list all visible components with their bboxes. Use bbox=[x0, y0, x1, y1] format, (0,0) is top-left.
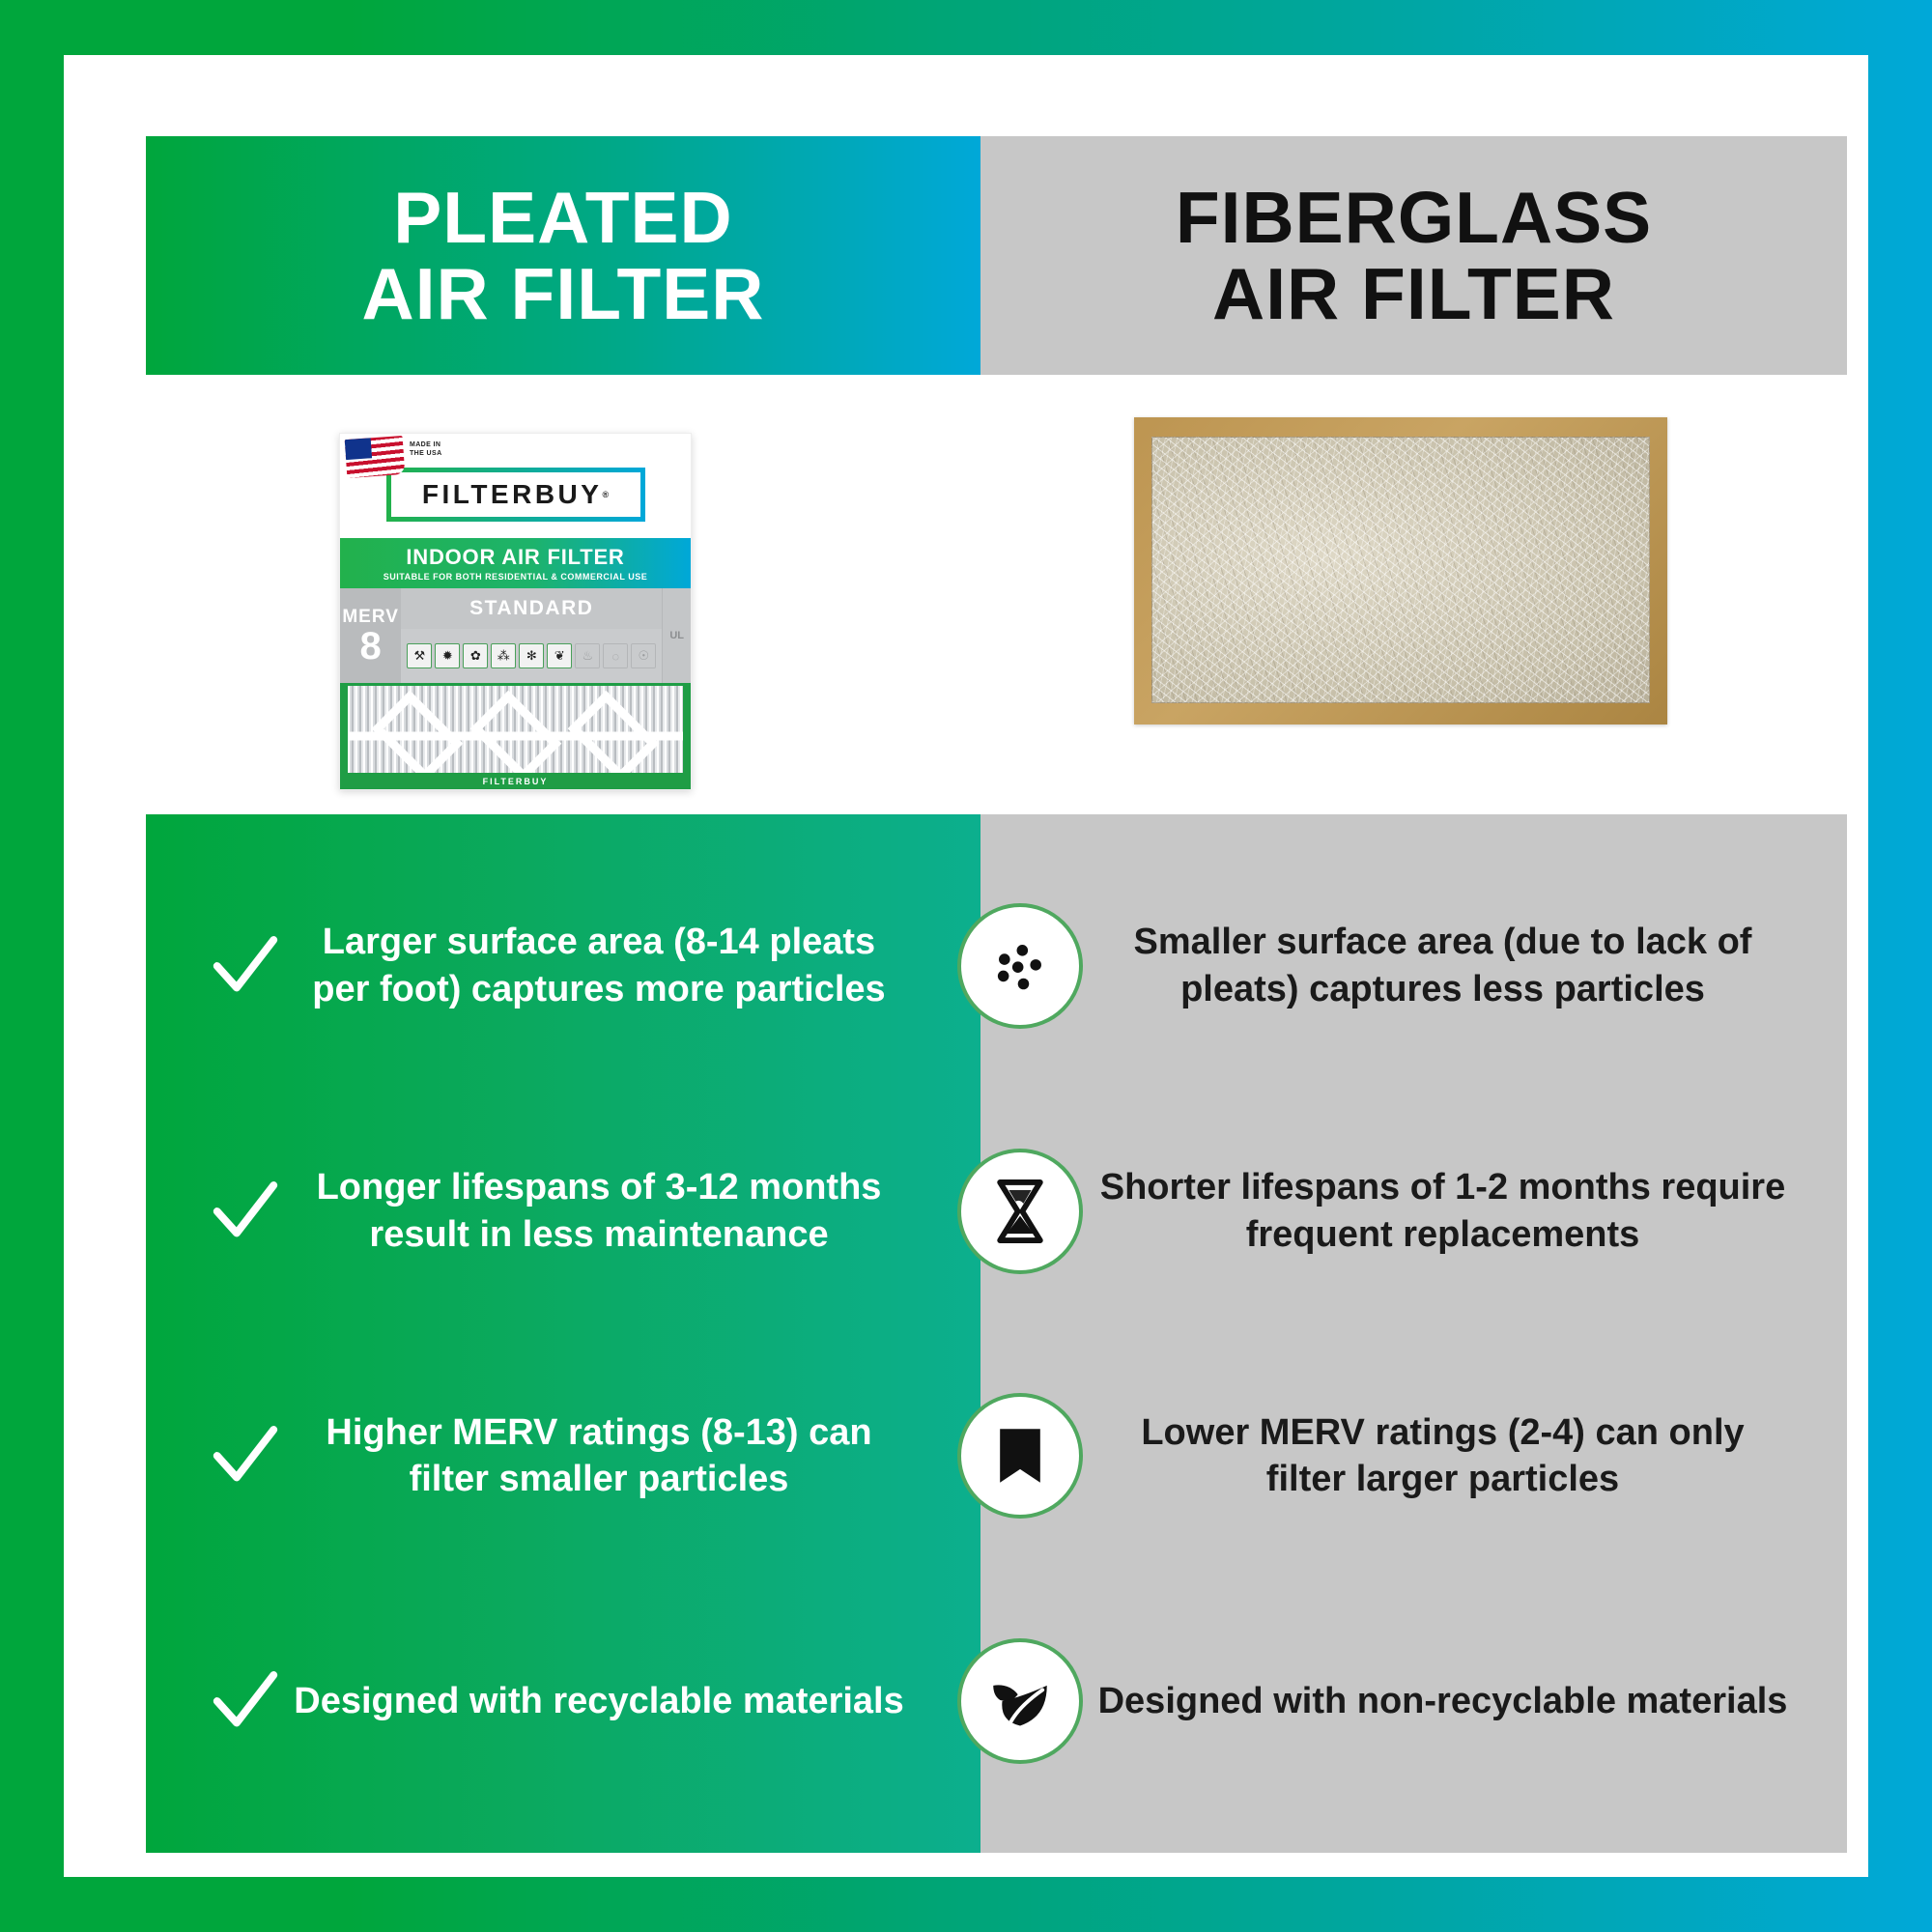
suitable-for-use-label: SUITABLE FOR BOTH RESIDENTIAL & COMMERCI… bbox=[384, 572, 648, 582]
grade-block: STANDARD ⚒ ✹ ✿ ⁂ ✻ ❦ ♨ ◌ ☉ bbox=[401, 588, 662, 683]
row-right-fiberglass: Lower MERV ratings (2-4) can only filter… bbox=[980, 1409, 1847, 1503]
pleated-media-window: FILTERBUY bbox=[340, 683, 691, 789]
virus-icon: ☉ bbox=[631, 643, 656, 668]
box-indoor-air-filter-band: INDOOR AIR FILTER SUITABLE FOR BOTH RESI… bbox=[340, 538, 691, 588]
household-dust-icon: ⚒ bbox=[407, 643, 432, 668]
comparison-row: Higher MERV ratings (8-13) can filter sm… bbox=[146, 1345, 1847, 1567]
box-footer-brand: FILTERBUY bbox=[340, 773, 691, 789]
row-left-pleated: Higher MERV ratings (8-13) can filter sm… bbox=[146, 1409, 980, 1503]
check-icon bbox=[204, 1177, 287, 1246]
row-right-fiberglass: Smaller surface area (due to lack of ple… bbox=[980, 919, 1847, 1012]
row-left-text: Larger surface area (8-14 pleats per foo… bbox=[293, 919, 905, 1012]
box-brand-header: MADE IN THE USA FILTERBUY® bbox=[340, 434, 691, 538]
comparison-row: Longer lifespans of 3-12 months result i… bbox=[146, 1100, 1847, 1322]
merv-value: 8 bbox=[360, 628, 382, 665]
row-right-fiberglass: Designed with non-recyclable materials bbox=[980, 1678, 1847, 1725]
mold-icon: ⁂ bbox=[491, 643, 516, 668]
infographic-root: PLEATED AIR FILTER FIBERGLASS AIR FILTER… bbox=[0, 0, 1932, 1932]
comparison-row: Designed with recyclable materials Desig… bbox=[146, 1590, 1847, 1812]
brand-name-text: FILTERBUY bbox=[422, 479, 603, 510]
white-card: PLEATED AIR FILTER FIBERGLASS AIR FILTER… bbox=[64, 55, 1868, 1877]
header-pleated-title: PLEATED AIR FILTER bbox=[362, 180, 765, 332]
lint-icon: ✻ bbox=[519, 643, 544, 668]
comparison-row: Larger surface area (8-14 pleats per foo… bbox=[146, 855, 1847, 1077]
row-right-fiberglass: Shorter lifespans of 1-2 months require … bbox=[980, 1164, 1847, 1258]
product-image-area: MADE IN THE USA FILTERBUY® INDOOR AIR FI… bbox=[146, 375, 1847, 814]
row-right-text: Designed with non-recyclable materials bbox=[1096, 1678, 1789, 1725]
fiberglass-product-column bbox=[980, 375, 1847, 814]
row-left-text: Higher MERV ratings (8-13) can filter sm… bbox=[293, 1409, 905, 1503]
smoke-icon: ♨ bbox=[575, 643, 600, 668]
row-right-text: Smaller surface area (due to lack of ple… bbox=[1096, 919, 1789, 1012]
row-left-text: Longer lifespans of 3-12 months result i… bbox=[293, 1164, 905, 1258]
grade-label: STANDARD bbox=[401, 588, 662, 629]
header-fiberglass-air-filter: FIBERGLASS AIR FILTER bbox=[980, 136, 1847, 375]
pleated-product-column: MADE IN THE USA FILTERBUY® INDOOR AIR FI… bbox=[146, 375, 980, 814]
check-icon bbox=[204, 1421, 287, 1491]
registered-mark: ® bbox=[602, 490, 609, 499]
header-band: PLEATED AIR FILTER FIBERGLASS AIR FILTER bbox=[146, 136, 1847, 375]
box-spec-band: MERV 8 STANDARD ⚒ ✹ ✿ ⁂ ✻ ❦ bbox=[340, 588, 691, 683]
header-fiberglass-title: FIBERGLASS AIR FILTER bbox=[1176, 180, 1652, 332]
made-in-usa-label: MADE IN THE USA bbox=[410, 441, 442, 459]
row-right-text: Lower MERV ratings (2-4) can only filter… bbox=[1096, 1409, 1789, 1503]
bacteria-icon: ◌ bbox=[603, 643, 628, 668]
pollutant-icon-strip: ⚒ ✹ ✿ ⁂ ✻ ❦ ♨ ◌ ☉ bbox=[401, 629, 662, 683]
pollen-icon: ✿ bbox=[463, 643, 488, 668]
ul-certification-icon: UL bbox=[662, 588, 691, 683]
indoor-air-filter-label: INDOOR AIR FILTER bbox=[406, 545, 624, 570]
comparison-panel: Larger surface area (8-14 pleats per foo… bbox=[146, 814, 1847, 1853]
usa-flag-icon bbox=[345, 436, 406, 478]
header-pleated-air-filter: PLEATED AIR FILTER bbox=[146, 136, 980, 375]
merv-rating-block: MERV 8 bbox=[340, 588, 401, 683]
brand-logo-frame: FILTERBUY® bbox=[386, 468, 645, 522]
pet-dander-icon: ❦ bbox=[547, 643, 572, 668]
check-icon bbox=[204, 1666, 287, 1736]
fiberglass-filter-photo bbox=[1134, 417, 1667, 724]
row-right-text: Shorter lifespans of 1-2 months require … bbox=[1096, 1164, 1789, 1258]
row-left-pleated: Larger surface area (8-14 pleats per foo… bbox=[146, 919, 980, 1012]
check-icon bbox=[204, 931, 287, 1001]
row-left-text: Designed with recyclable materials bbox=[293, 1678, 905, 1725]
comparison-rows: Larger surface area (8-14 pleats per foo… bbox=[146, 814, 1847, 1853]
filterbuy-retail-box: MADE IN THE USA FILTERBUY® INDOOR AIR FI… bbox=[339, 433, 692, 790]
dust-mites-icon: ✹ bbox=[435, 643, 460, 668]
fiberglass-media-texture bbox=[1151, 437, 1650, 703]
row-left-pleated: Designed with recyclable materials bbox=[146, 1666, 980, 1736]
row-left-pleated: Longer lifespans of 3-12 months result i… bbox=[146, 1164, 980, 1258]
